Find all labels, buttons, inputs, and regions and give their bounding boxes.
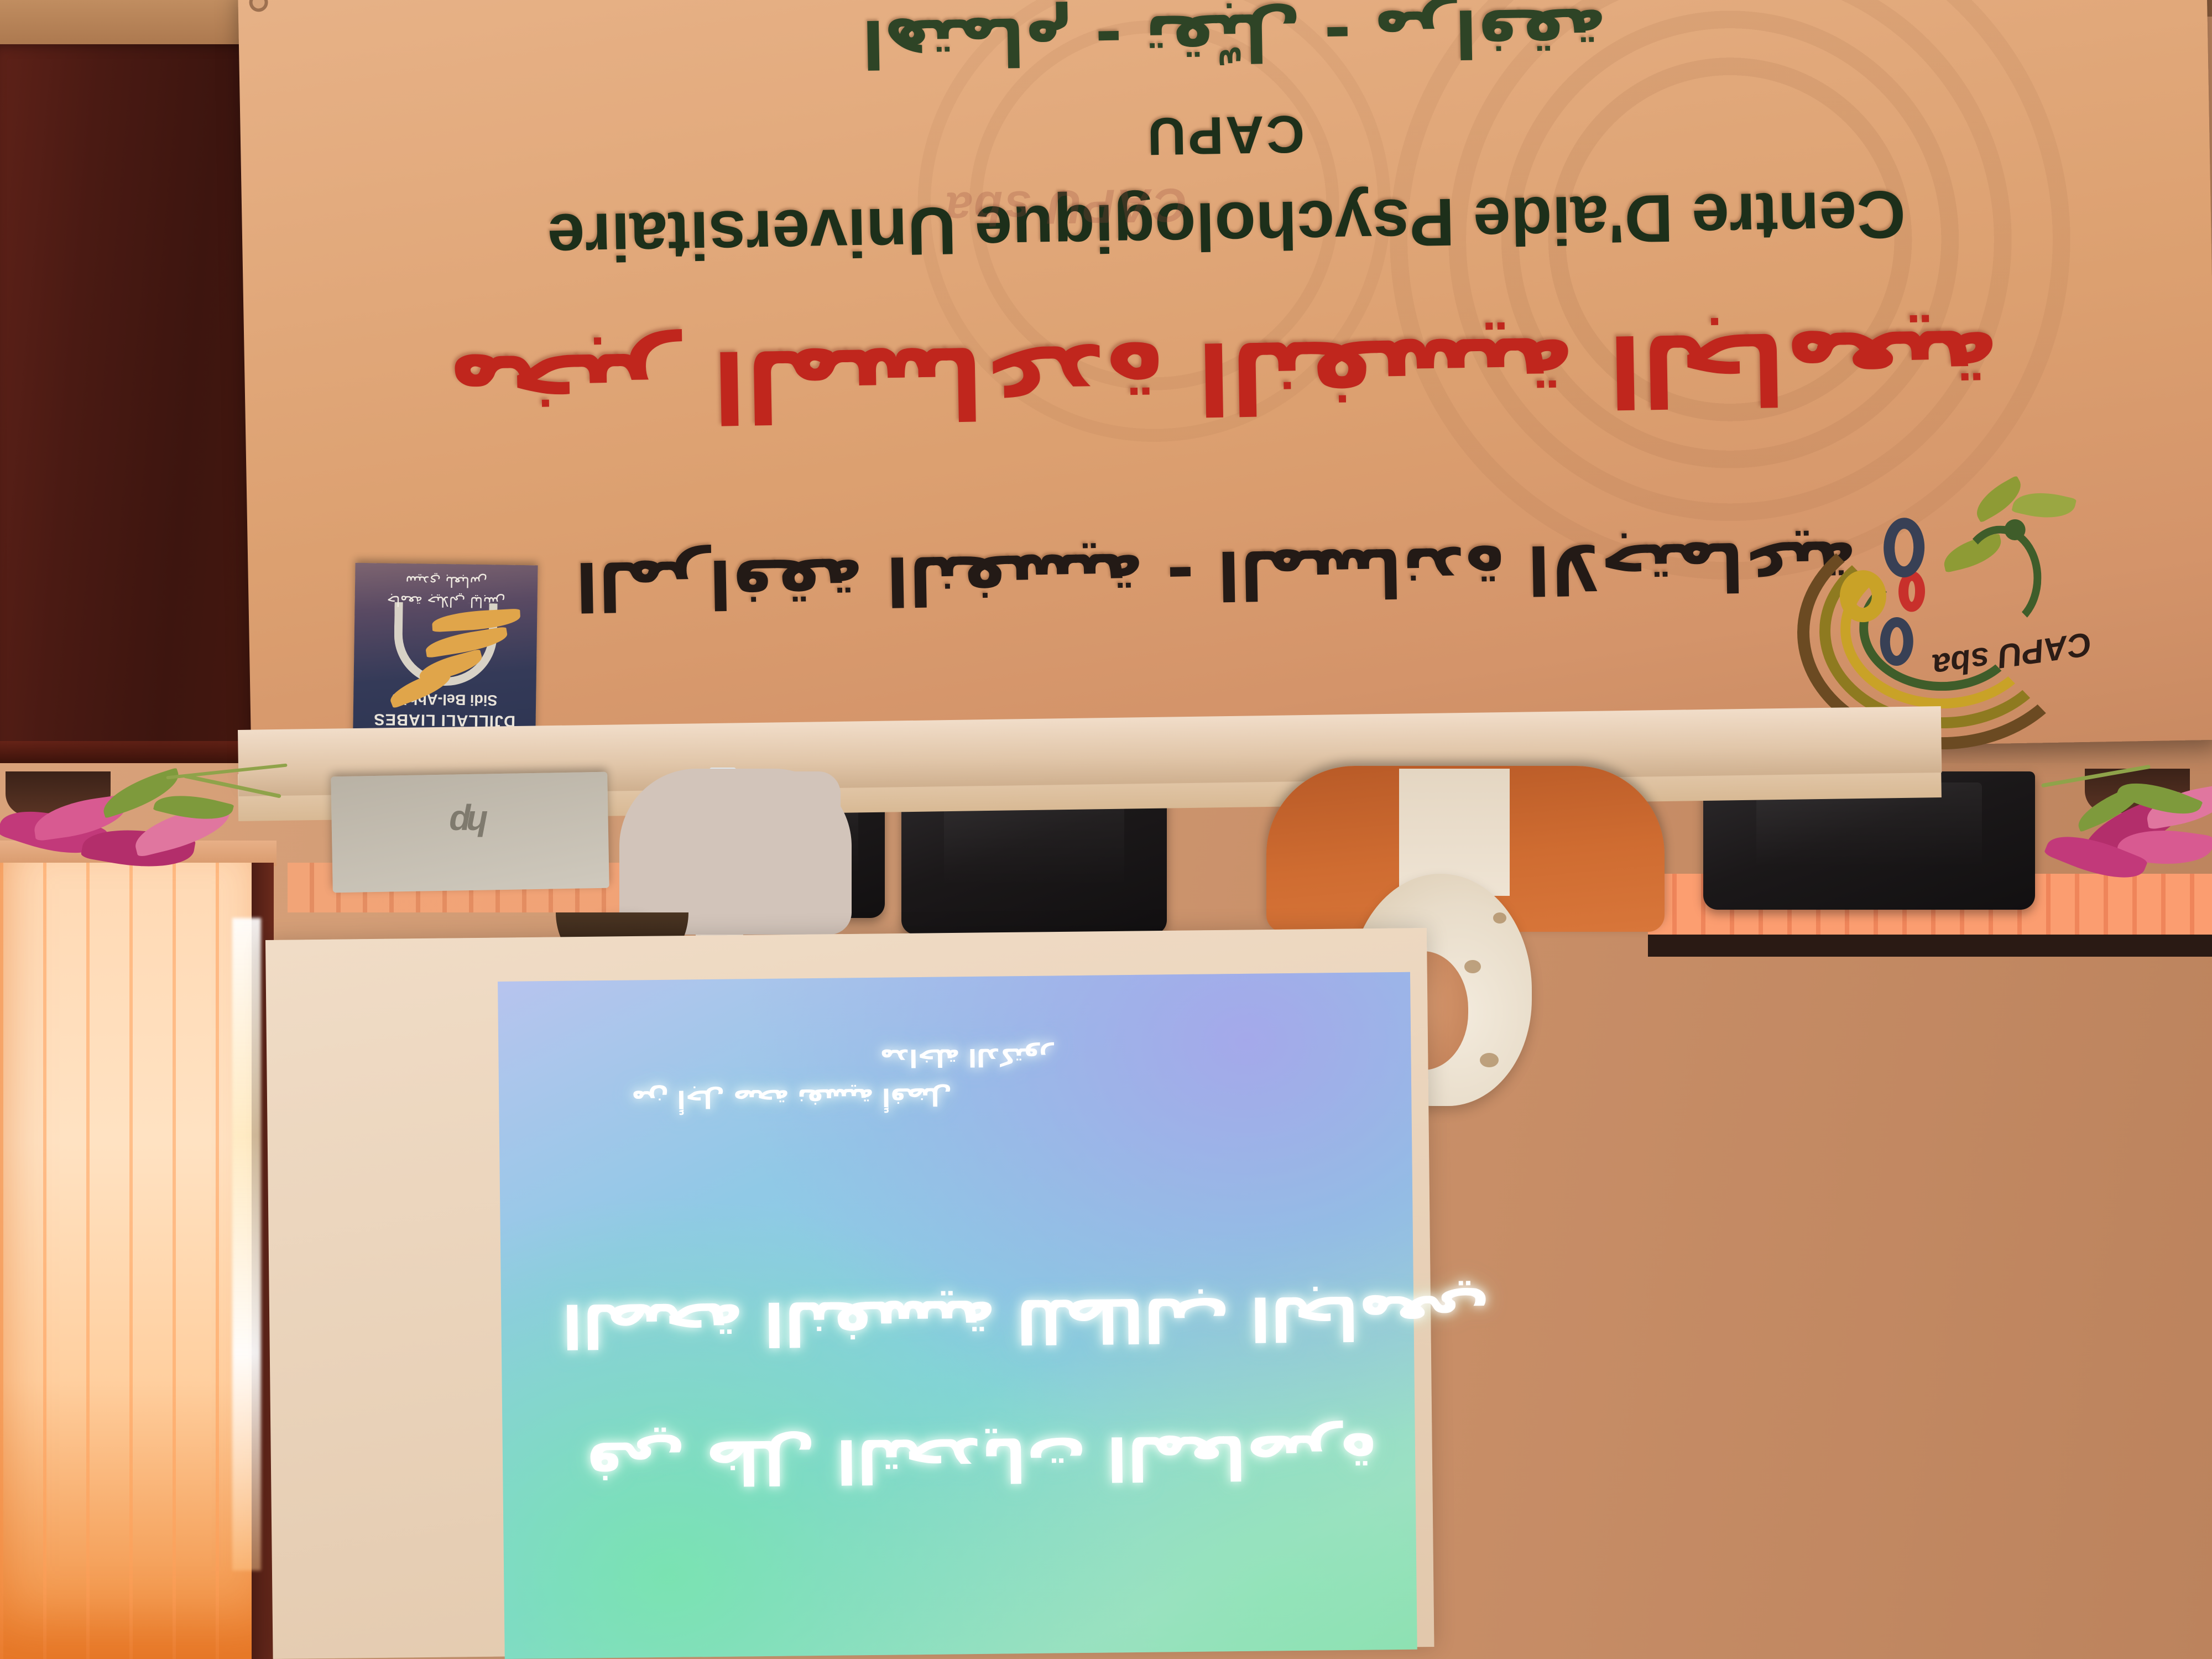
hijab-floral-dot: [1480, 1053, 1499, 1067]
banner-arabic-tagline: اهتمام - تقبّل - مرافقة: [471, 0, 1998, 89]
banner-arabic-subtitle: المرافقة النفسية - المساندة الاجتماعية: [469, 523, 1963, 626]
photo-scene: اهتمام - تقبّل - مرافقة Centre D'aide Ps…: [0, 0, 2212, 1659]
university-logo-arabic-2: سيدي بلعباس: [355, 572, 538, 591]
projected-slide: مداخلة الدكتور من أجل صحة نفسية أفضل الص…: [498, 972, 1417, 1659]
banner-ghost-wordmark: CAPU sba: [943, 177, 1187, 236]
university-logo-city: Sidi Bel-Abbès: [353, 690, 536, 709]
university-logo-arabic-1: جامعة جيلالي ليابس: [354, 592, 537, 611]
banner-grommet: [249, 0, 268, 12]
slide-header-small-2: من أجل صحة نفسية أفضل: [632, 1082, 952, 1113]
slide-title-line-2: في ظل التحديات المعاصرة: [585, 1420, 1376, 1498]
vertical-blinds: [0, 863, 271, 1659]
hijab-floral-dot: [1493, 912, 1506, 924]
hp-logo-icon: hp: [453, 803, 488, 844]
baseboard: [1648, 935, 2212, 957]
banner-arabic-title: مخبر المساعدة النفسية الجامعية: [343, 305, 2104, 448]
wood-wall-panel: [0, 44, 276, 763]
male-speaker-arm: [758, 771, 841, 860]
slide-header-small-1: مداخلة الدكتور: [880, 1042, 1053, 1072]
banner-acronym: CAPU: [362, 90, 2088, 180]
slide-title-line-1: الصحة النفسية للطالب الجامعي: [562, 1281, 1490, 1360]
hijab-floral-dot: [1464, 960, 1481, 973]
banner-french-title: Centre D'aide Psychologique Universitair…: [363, 173, 2090, 280]
window-light-gap: [232, 918, 261, 1571]
